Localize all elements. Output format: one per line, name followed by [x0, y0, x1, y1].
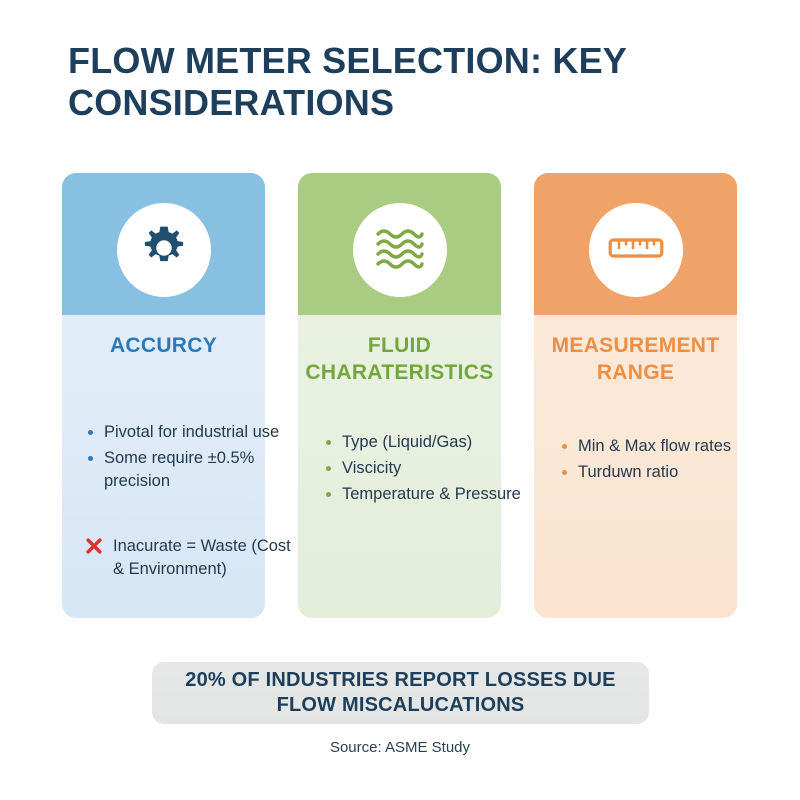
list-item: Some require ±0.5% precision	[86, 447, 316, 493]
card-title: FLUID CHARATERISTICS	[284, 333, 515, 387]
gear-icon	[139, 223, 189, 278]
ruler-icon	[608, 233, 664, 268]
source-caption: Source: ASME Study	[0, 739, 800, 756]
bullet-list: Type (Liquid/Gas) Viscicity Temperature …	[324, 431, 539, 508]
list-item: Viscicity	[324, 457, 539, 480]
warning-note: Inacurate = Waste (Cost & Environment)	[84, 535, 299, 581]
card-title: ACCURCY	[48, 333, 279, 360]
card-fluid-characteristics: FLUID CHARATERISTICS Type (Liquid/Gas) V…	[298, 173, 501, 618]
statistic-text: 20% OF INDUSTRIES REPORT LOSSES DUE FLOW…	[152, 668, 649, 718]
bullet-list: Pivotal for industrial use Some require …	[86, 421, 316, 495]
page-title: FLOW METER SELECTION: KEY CONSIDERATIONS	[68, 40, 688, 124]
list-item: Type (Liquid/Gas)	[324, 431, 539, 454]
cards-row: ACCURCY Pivotal for industrial use Some …	[0, 173, 800, 623]
card-measurement-range: MEASUREMENT RANGE Min & Max flow rates T…	[534, 173, 737, 618]
card-title: MEASUREMENT RANGE	[520, 333, 751, 387]
infographic-page: FLOW METER SELECTION: KEY CONSIDERATIONS…	[0, 0, 800, 800]
icon-circle	[353, 203, 447, 297]
list-item: Pivotal for industrial use	[86, 421, 316, 444]
bullet-list: Min & Max flow rates Turduwn ratio	[560, 435, 775, 487]
card-accuracy: ACCURCY Pivotal for industrial use Some …	[62, 173, 265, 618]
list-item: Min & Max flow rates	[560, 435, 775, 458]
warning-text: Inacurate = Waste (Cost & Environment)	[113, 535, 299, 581]
icon-circle	[117, 203, 211, 297]
list-item: Temperature & Pressure	[324, 483, 539, 506]
list-item: Turduwn ratio	[560, 461, 775, 484]
statistic-banner: 20% OF INDUSTRIES REPORT LOSSES DUE FLOW…	[152, 662, 649, 724]
water-waves-icon	[374, 225, 426, 276]
icon-circle	[589, 203, 683, 297]
x-mark-icon	[84, 536, 104, 563]
